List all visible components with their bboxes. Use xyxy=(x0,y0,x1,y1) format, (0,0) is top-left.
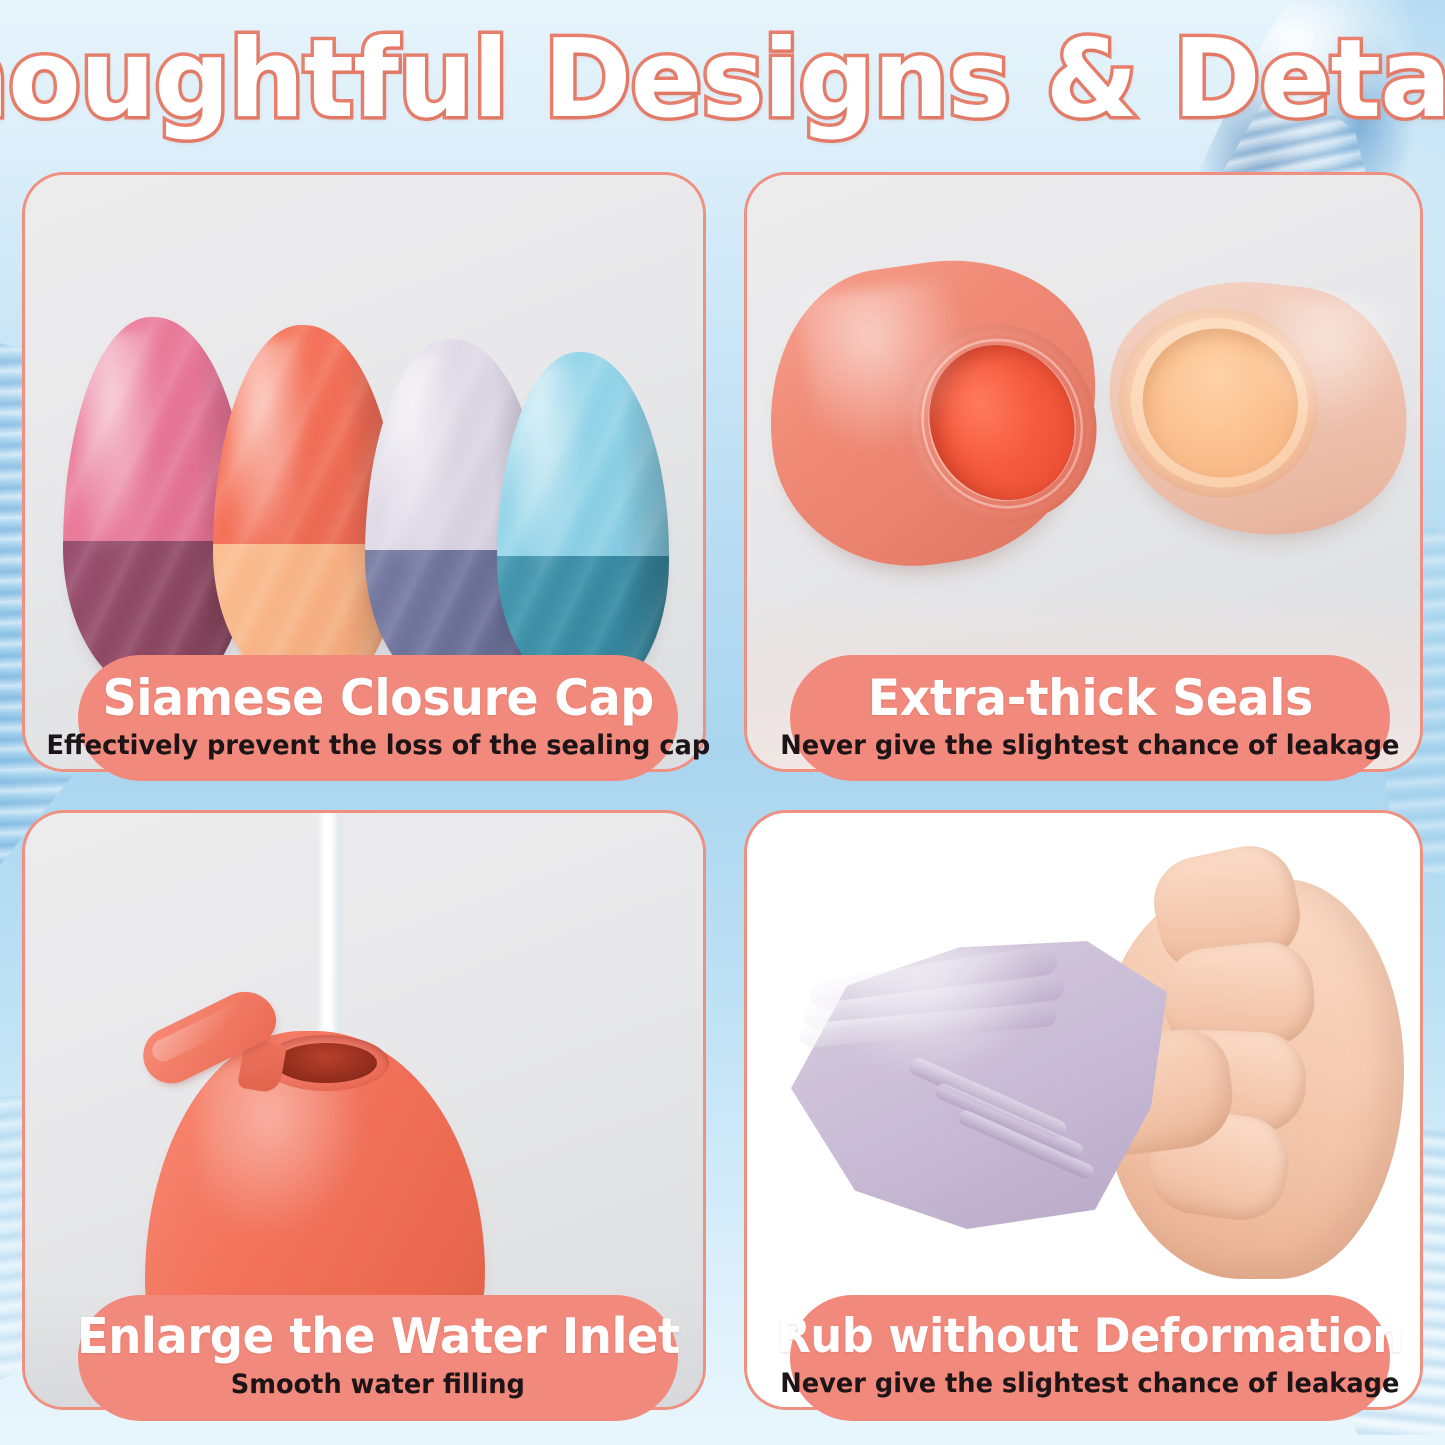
caption-rub-without-deformation: Rub without Deformation Never give the s… xyxy=(790,1295,1390,1421)
product-lavender-bottle-squeezed xyxy=(783,909,1183,1229)
caption-title: Extra-thick Seals xyxy=(867,672,1312,724)
bottle-highlight xyxy=(228,340,314,578)
header: Thoughtful Designs & Details xyxy=(0,0,1445,160)
bottle-highlight xyxy=(78,332,164,575)
peach-seal-highlight xyxy=(1239,292,1396,436)
caption-siamese-closure-cap: Siamese Closure Cap Effectively prevent … xyxy=(78,655,678,781)
infographic-page: Thoughtful Designs & Details xyxy=(0,0,1445,1445)
coral-seal-highlight xyxy=(798,276,985,465)
squeezed-bottle-highlight xyxy=(855,941,1039,1082)
product-coral-seal-bottle xyxy=(750,241,1119,584)
product-blue-bottle xyxy=(497,352,669,697)
caption-subtitle: Never give the slightest chance of leaka… xyxy=(780,1369,1399,1399)
bottle-highlight xyxy=(511,366,590,587)
caption-title: Rub without Deformation xyxy=(776,1313,1403,1362)
water-inlet-opening xyxy=(275,1043,377,1083)
caption-title: Siamese Closure Cap xyxy=(102,672,653,724)
caption-title: Enlarge the Water Inlet xyxy=(77,1312,680,1363)
caption-subtitle: Smooth water filling xyxy=(231,1370,525,1400)
product-peach-seal-bottle xyxy=(1096,268,1420,548)
bottle-highlight xyxy=(379,353,462,582)
caption-extra-thick-seals: Extra-thick Seals Never give the slighte… xyxy=(790,655,1390,781)
caption-enlarge-water-inlet: Enlarge the Water Inlet Smooth water fil… xyxy=(78,1295,678,1421)
page-title: Thoughtful Designs & Details xyxy=(0,26,1445,134)
caption-subtitle: Never give the slightest chance of leaka… xyxy=(780,731,1399,761)
caption-subtitle: Effectively prevent the loss of the seal… xyxy=(46,731,710,761)
bottle-shading xyxy=(611,352,669,697)
